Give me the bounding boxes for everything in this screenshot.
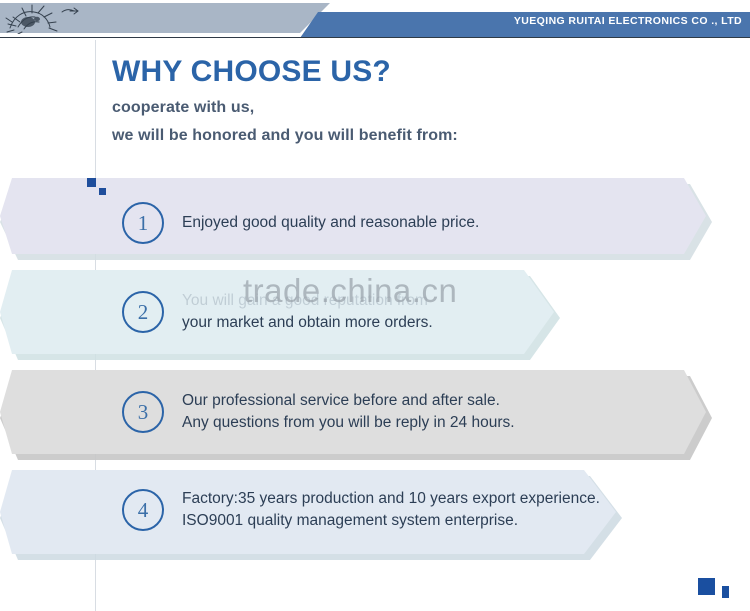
benefit-content-2: 2 You will gain a good reputation from y… (122, 290, 433, 334)
benefit-2-line-2: your market and obtain more orders. (182, 312, 433, 334)
decor-square-top-left-a (87, 178, 96, 187)
benefit-3-line-2: Any questions from you will be reply in … (182, 412, 515, 434)
decor-square-bottom-right-b (722, 586, 729, 598)
benefit-row-3: 3 Our professional service before and af… (0, 368, 712, 468)
benefit-list: 1 Enjoyed good quality and reasonable pr… (0, 0, 750, 611)
benefit-4-line-1: Factory:35 years production and 10 years… (182, 488, 600, 510)
benefit-1-line-1: Enjoyed good quality and reasonable pric… (182, 212, 479, 234)
benefit-content-1: 1 Enjoyed good quality and reasonable pr… (122, 202, 479, 244)
benefit-text-1: Enjoyed good quality and reasonable pric… (182, 212, 479, 234)
benefit-number-1: 1 (122, 202, 164, 244)
benefit-2-line-1: You will gain a good reputation from (182, 290, 433, 312)
benefit-text-3: Our professional service before and afte… (182, 390, 515, 434)
benefit-number-2: 2 (122, 291, 164, 333)
decor-square-bottom-right-a (698, 578, 715, 595)
benefit-number-4: 4 (122, 489, 164, 531)
benefit-content-4: 4 Factory:35 years production and 10 yea… (122, 488, 600, 532)
benefit-row-1: 1 Enjoyed good quality and reasonable pr… (0, 176, 712, 268)
benefit-text-2: You will gain a good reputation from you… (182, 290, 433, 334)
benefit-4-line-2: ISO9001 quality management system enterp… (182, 510, 600, 532)
decor-square-top-left-b (99, 188, 106, 195)
benefit-row-2: 2 You will gain a good reputation from y… (0, 268, 560, 368)
benefit-number-3: 3 (122, 391, 164, 433)
benefit-content-3: 3 Our professional service before and af… (122, 390, 515, 434)
benefit-3-line-1: Our professional service before and afte… (182, 390, 515, 412)
benefit-text-4: Factory:35 years production and 10 years… (182, 488, 600, 532)
benefit-row-4: 4 Factory:35 years production and 10 yea… (0, 468, 622, 568)
